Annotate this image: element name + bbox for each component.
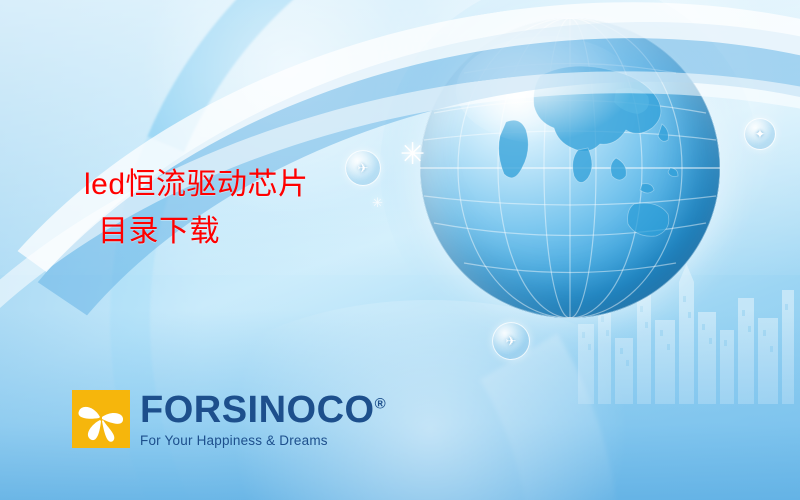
clover-glyph: [72, 390, 130, 448]
company-logo: FORSINOCO® For Your Happiness & Dreams: [72, 390, 386, 448]
four-petal-clover-icon: [72, 390, 130, 448]
bubble-small-upper-left: ✈: [345, 150, 381, 186]
logo-text-block: FORSINOCO® For Your Happiness & Dreams: [140, 391, 386, 448]
slide-title-line-1: led恒流驱动芯片: [84, 162, 309, 209]
bubble-small-right: ✦: [744, 118, 776, 150]
logo-company-name-text: FORSINOCO: [140, 389, 375, 431]
bubble-glyph: ✈: [506, 335, 517, 348]
sparkle-flower-icon: ✳: [400, 140, 425, 170]
logo-tagline: For Your Happiness & Dreams: [140, 433, 386, 448]
logo-company-name: FORSINOCO®: [140, 391, 386, 429]
slide-title-line-2: 目录下载: [84, 209, 309, 256]
sparkle-flower-small-icon: ✳: [372, 196, 383, 209]
registered-trademark-icon: ®: [375, 395, 387, 412]
presentation-slide: ✈ ✦ ✈ ✳ ✳ led恒流驱动芯片 目录下载 FORSINOCO® For …: [0, 0, 800, 500]
bubble-glyph: ✈: [358, 162, 369, 175]
bubble-glyph: ✦: [755, 128, 766, 141]
bubble-lower-center: ✈: [492, 322, 530, 360]
slide-title: led恒流驱动芯片 目录下载: [84, 162, 309, 255]
